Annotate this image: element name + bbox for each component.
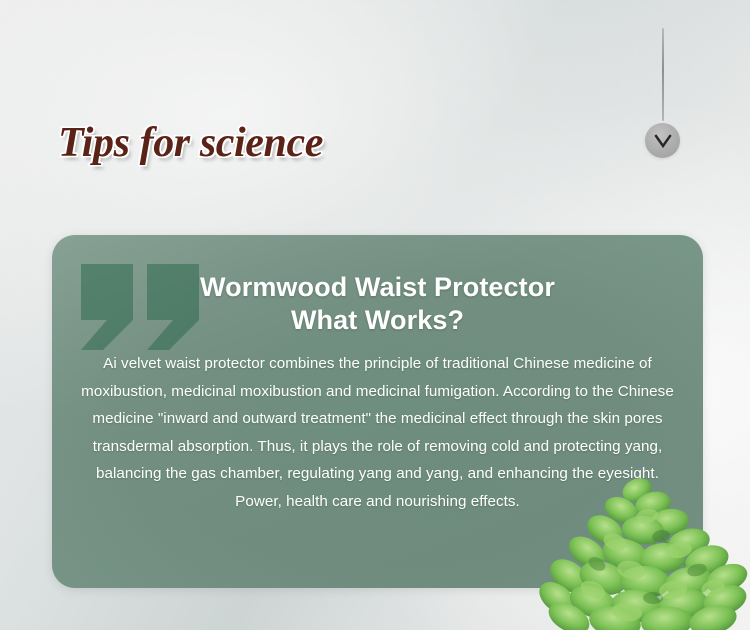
scroll-down-button[interactable] [645,123,680,158]
scroll-indicator-line [662,28,664,121]
product-info-card: Wormwood Waist Protector What Works? Ai … [52,235,703,588]
banner-stage: Tips for science and knowledge Re-establ… [0,0,750,630]
card-heading-line-1: Wormwood Waist Protector [52,271,703,304]
card-heading-line-2: What Works? [52,304,703,337]
card-body-closing: Power, health care and nourishing effect… [66,488,689,516]
card-heading: Wormwood Waist Protector What Works? [52,271,703,337]
card-body-text: Ai velvet waist protector combines the p… [66,350,689,515]
headline-line-1: Tips for science [58,121,482,166]
card-body-paragraph: Ai velvet waist protector combines the p… [66,350,689,488]
chevron-down-icon [653,133,673,149]
